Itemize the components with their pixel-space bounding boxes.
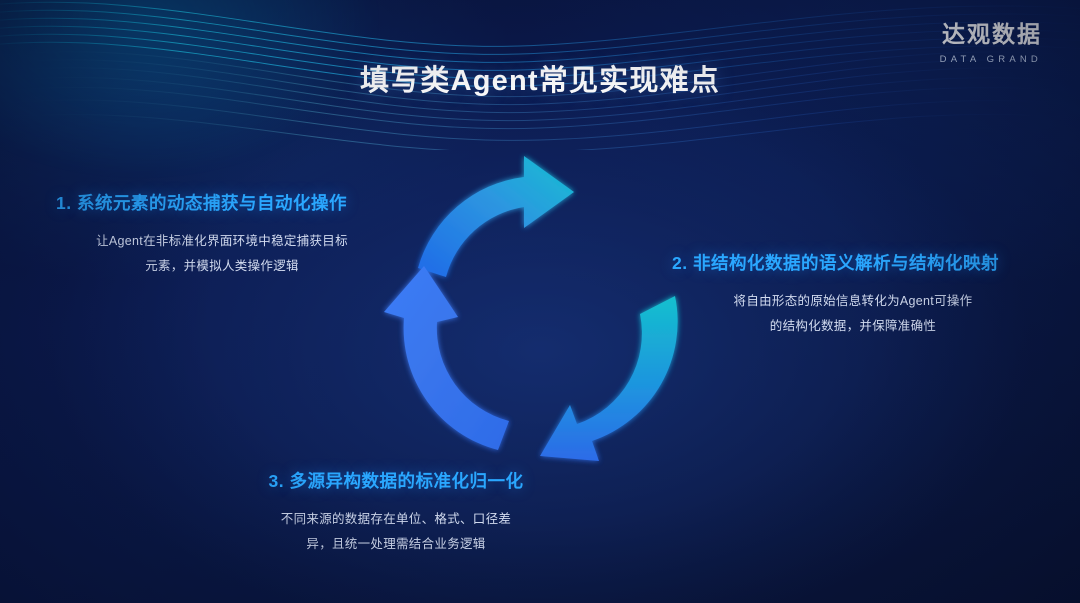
- point-3-desc: 不同来源的数据存在单位、格式、口径差 异，且统一处理需结合业务逻辑: [196, 507, 596, 557]
- point-2-desc-line2: 的结构化数据，并保障准确性: [682, 314, 1024, 339]
- point-3: 3. 多源异构数据的标准化归一化 不同来源的数据存在单位、格式、口径差 异，且统…: [196, 468, 596, 557]
- point-2-desc-line1: 将自由形态的原始信息转化为Agent可操作: [682, 289, 1024, 314]
- point-1-desc-line2: 元素，并模拟人类操作逻辑: [56, 254, 388, 279]
- point-3-desc-line1: 不同来源的数据存在单位、格式、口径差: [196, 507, 596, 532]
- brand-name-cn: 达观数据: [940, 22, 1042, 47]
- point-3-heading: 3. 多源异构数据的标准化归一化: [196, 468, 596, 493]
- arrow-left: [384, 266, 509, 450]
- cycle-diagram: [378, 150, 702, 474]
- point-3-desc-line2: 异，且统一处理需结合业务逻辑: [196, 532, 596, 557]
- point-2: 2. 非结构化数据的语义解析与结构化映射 将自由形态的原始信息转化为Agent可…: [672, 250, 1024, 339]
- point-1-heading: 1. 系统元素的动态捕获与自动化操作: [56, 190, 406, 215]
- point-1-desc: 让Agent在非标准化界面环境中稳定捕获目标 元素，并模拟人类操作逻辑: [56, 229, 406, 279]
- point-2-desc: 将自由形态的原始信息转化为Agent可操作 的结构化数据，并保障准确性: [672, 289, 1024, 339]
- point-1-desc-line1: 让Agent在非标准化界面环境中稳定捕获目标: [56, 229, 388, 254]
- slide-root: 达观数据 DATA GRAND 填写类Agent常见实现难点: [0, 0, 1080, 603]
- page-title: 填写类Agent常见实现难点: [0, 57, 1080, 99]
- point-2-heading: 2. 非结构化数据的语义解析与结构化映射: [672, 250, 1024, 275]
- point-1: 1. 系统元素的动态捕获与自动化操作 让Agent在非标准化界面环境中稳定捕获目…: [56, 190, 406, 279]
- arrow-bottom-right: [540, 296, 678, 461]
- arrow-top-right: [418, 156, 574, 277]
